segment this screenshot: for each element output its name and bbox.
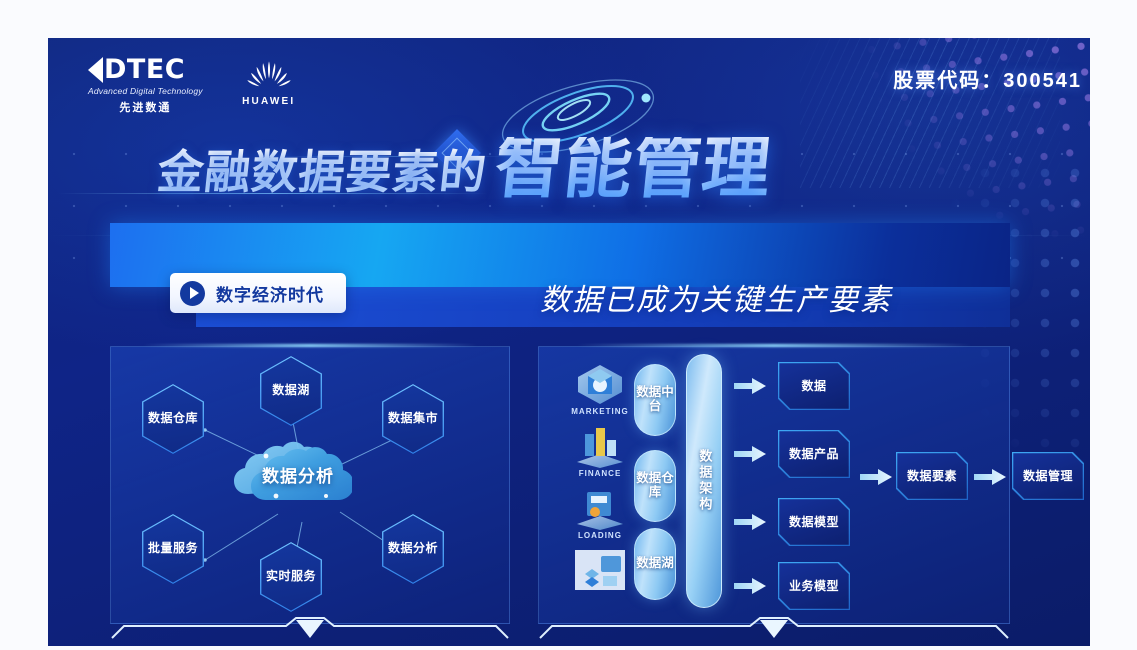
left-diagram-panel: 数据分析 数据仓库数据湖数据集市批量服务实时服务数据分析 [110,346,510,624]
banner-headline: 数据已成为关键生产要素 [540,275,892,319]
output-box-label: 数据模型 [789,515,839,529]
title-part-one: 金融数据要素的 [155,136,491,202]
dtec-wordmark: DTEC [104,56,185,83]
final-box-label: 数据管理 [1023,469,1073,483]
left-panel-foot-chevron [110,616,510,646]
right-panel-foot-chevron [538,616,1010,646]
huawei-flower-icon [241,58,297,92]
cloud-label: 数据分析 [230,434,352,516]
dtec-chinese-name: 先进数通 [88,99,203,115]
data-source-item[interactable]: LOADING [560,486,640,544]
output-box-label: 业务模型 [789,579,839,593]
output-box-label: 数据 [801,379,826,393]
data-source-item[interactable]: FINANCE [560,424,640,482]
dtec-triangle-icon [88,57,103,83]
platform-pill-label: 数据湖 [636,557,674,571]
huawei-logo: HUAWEI [241,56,297,107]
tech-streaks-decoration [800,38,1060,188]
chart-isometric-icon [573,424,627,468]
output-box-label: 数据产品 [789,447,839,461]
section-tag[interactable]: 数字经济时代 [170,273,346,313]
section-tag-label: 数字经济时代 [216,281,324,306]
output-box[interactable]: 业务模型 [778,562,850,610]
final-box[interactable]: 数据管理 [1012,452,1084,500]
flow-arrow-icon [974,468,1008,486]
logo-bar: DTEC Advanced Digital Technology 先进数通 [88,56,297,115]
architecture-pill: 数据架构 [686,354,722,608]
huawei-wordmark: HUAWEI [241,96,297,107]
platform-pill-label: 数据中台 [635,386,675,414]
flow-arrow-icon [734,445,768,463]
dtec-tagline: Advanced Digital Technology [88,86,203,96]
flow-arrow-icon [734,377,768,395]
platform-pill-label: 数据仓库 [635,472,675,500]
hex-node-label: 批量服务 [148,542,198,556]
architecture-label: 数据架构 [692,449,717,513]
cube-isometric-icon [573,362,627,406]
slide-title: 金融数据要素的 智能管理 [158,136,771,202]
output-box[interactable]: 数据模型 [778,498,850,546]
right-diagram-panel: MARKETINGFINANCELOADING 数据中台数据仓库数据湖 数据架构… [538,346,1010,624]
result-box[interactable]: 数据要素 [896,452,968,500]
slide-canvas: DTEC Advanced Digital Technology 先进数通 [0,0,1137,650]
flow-arrow-icon [734,577,768,595]
flow-arrow-icon [734,513,768,531]
data-source-item[interactable] [560,548,640,606]
platform-pill[interactable]: 数据中台 [634,364,676,436]
play-icon [180,281,205,306]
output-box[interactable]: 数据产品 [778,430,850,478]
result-box-label: 数据要素 [907,469,957,483]
devices-isometric-icon [573,548,627,592]
platform-pill[interactable]: 数据仓库 [634,450,676,522]
hex-node-label: 数据湖 [272,384,310,398]
panel-top-glow [576,344,972,347]
data-source-list: MARKETINGFINANCELOADING [560,362,640,608]
flow-arrow-icon [860,468,894,486]
output-box[interactable]: 数据 [778,362,850,410]
data-source-caption: FINANCE [560,469,640,478]
stock-code-text: 股票代码：300541 [893,64,1082,93]
presentation-slide: DTEC Advanced Digital Technology 先进数通 [48,38,1090,646]
data-source-caption: LOADING [560,531,640,540]
data-source-item[interactable]: MARKETING [560,362,640,420]
hex-node-label: 实时服务 [266,570,316,584]
center-cloud: 数据分析 [230,434,352,516]
platform-pill[interactable]: 数据湖 [634,528,676,600]
hex-node-label: 数据仓库 [148,412,198,426]
data-source-caption: MARKETING [560,407,640,416]
hex-node-label: 数据集市 [388,412,438,426]
section-banner: 数字经济时代 数据已成为关键生产要素 [110,223,1010,329]
dtec-logo: DTEC Advanced Digital Technology 先进数通 [88,56,203,115]
title-part-two: 智能管理 [492,137,775,202]
hex-node-label: 数据分析 [388,542,438,556]
server-isometric-icon [573,486,627,530]
